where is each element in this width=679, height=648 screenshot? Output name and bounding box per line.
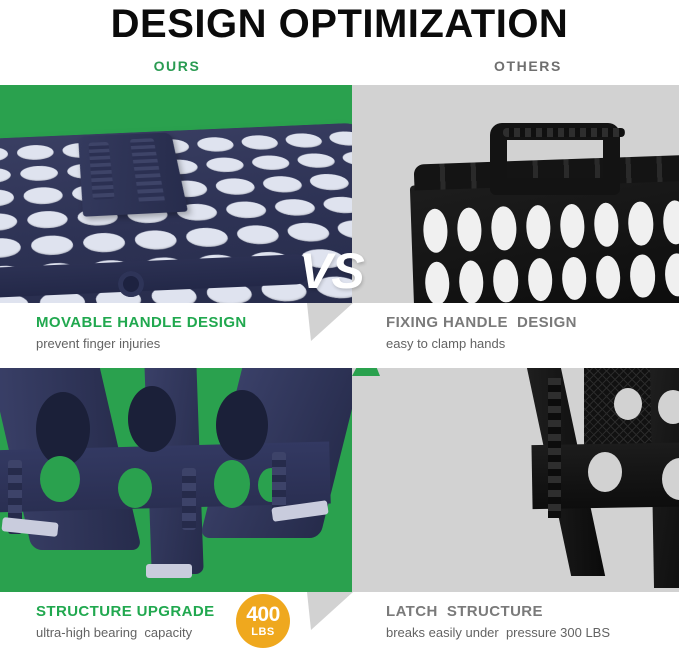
caption-title: LATCH STRUCTURE — [386, 603, 610, 621]
column-header-ours: OURS — [117, 58, 237, 74]
hinge-knob — [118, 271, 144, 297]
caption-subtitle: breaks easily under pressure 300 LBS — [386, 624, 610, 642]
comparison-row-1: VS — [0, 85, 679, 303]
caption-others-2: LATCH STRUCTURE breaks easily under pres… — [386, 603, 610, 642]
caption-ours-2: STRUCTURE UPGRADE ultra-high bearing cap… — [36, 603, 214, 642]
caption-others-1: FIXING HANDLE DESIGN easy to clamp hands — [386, 314, 577, 353]
caption-subtitle: prevent finger injuries — [36, 335, 247, 353]
black-anti-slip-dots — [423, 199, 679, 303]
page-title: DESIGN OPTIMIZATION — [0, 0, 679, 48]
others-structure-product-image — [352, 368, 679, 592]
row-1-others-image-panel — [352, 85, 679, 303]
weight-capacity-badge: 400 LBS — [236, 594, 290, 648]
leg-ratchet — [272, 452, 286, 510]
black-leg-cutout — [588, 452, 622, 492]
leg-ratchet — [182, 468, 196, 530]
leg-cutout — [216, 390, 268, 460]
leg-cutout — [36, 392, 90, 466]
fixed-handle — [490, 123, 620, 195]
vs-badge-row-1: VS — [299, 242, 364, 300]
caption-band-1: MOVABLE HANDLE DESIGN prevent finger inj… — [0, 303, 679, 359]
leg-cutout — [128, 386, 176, 452]
black-latch-teeth — [548, 378, 561, 518]
row-2-others-image-panel — [352, 368, 679, 592]
ours-structure-product-image — [0, 368, 381, 592]
black-leg-cutout — [614, 388, 642, 420]
stool-foot — [146, 564, 192, 578]
caption-subtitle: ultra-high bearing capacity — [36, 624, 214, 642]
leg-cutout — [118, 468, 152, 508]
row-2-ours-image-panel — [0, 368, 381, 592]
others-handle-product-image — [352, 85, 679, 303]
leg-cutout — [214, 460, 250, 508]
leg-cutout — [40, 456, 80, 502]
column-header-others: OTHERS — [458, 58, 598, 74]
badge-value: 400 — [246, 604, 280, 625]
caption-title: FIXING HANDLE DESIGN — [386, 314, 577, 332]
caption-subtitle: easy to clamp hands — [386, 335, 577, 353]
caption-title: MOVABLE HANDLE DESIGN — [36, 314, 247, 332]
caption-band-2: STRUCTURE UPGRADE ultra-high bearing cap… — [0, 592, 679, 648]
badge-unit: LBS — [251, 627, 275, 638]
caption-title: STRUCTURE UPGRADE — [36, 603, 214, 621]
caption-ours-1: MOVABLE HANDLE DESIGN prevent finger inj… — [36, 314, 247, 353]
comparison-row-2: VS — [0, 368, 679, 592]
movable-handle — [78, 132, 188, 216]
